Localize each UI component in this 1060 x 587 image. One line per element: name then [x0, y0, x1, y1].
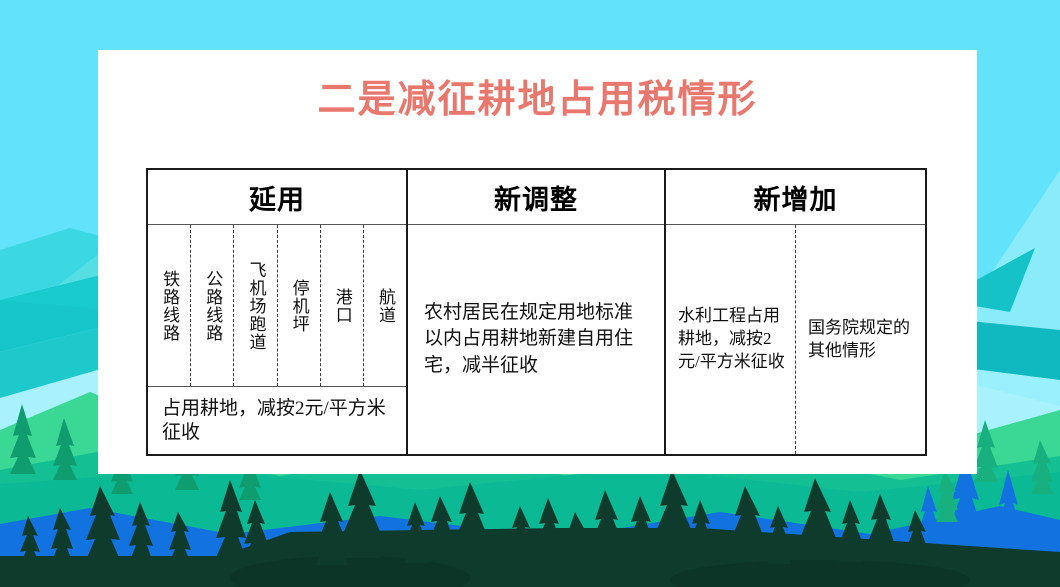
column-header-xintiaozheng: 新调整 [408, 170, 664, 225]
yanyong-item-cell-2: 公路线路 [191, 225, 234, 386]
yanyong-item-label-3: 飞机场跑道 [246, 261, 264, 351]
yanyong-note-cell: 占用耕地，减按2元/平方米征收 [148, 387, 406, 454]
slide-stage: 二是减征耕地占用税情形 延用 铁路线路 公路线路 飞机场跑道 停机坪 [0, 0, 1060, 587]
yanyong-item-cell-6: 航道 [364, 225, 406, 386]
yanyong-item-label-2: 公路线路 [203, 270, 221, 342]
yanyong-item-cell-3: 飞机场跑道 [234, 225, 277, 386]
yanyong-item-cell-4: 停机坪 [278, 225, 321, 386]
xintiaozheng-text: 农村居民在规定用地标准以内占用耕地新建自用住宅，减半征收 [424, 300, 650, 380]
yanyong-item-label-5: 港口 [333, 288, 351, 324]
yanyong-note-text: 占用耕地，减按2元/平方米征收 [162, 397, 398, 445]
yanyong-items-row: 铁路线路 公路线路 飞机场跑道 停机坪 港口 航道 [148, 225, 406, 387]
table-column-xintiaozheng: 新调整 农村居民在规定用地标准以内占用耕地新建自用住宅，减半征收 [408, 170, 666, 454]
table-column-yanyong: 延用 铁路线路 公路线路 飞机场跑道 停机坪 港口 [148, 170, 408, 454]
xintiaozheng-body-cell: 农村居民在规定用地标准以内占用耕地新建自用住宅，减半征收 [408, 225, 664, 454]
yanyong-item-label-6: 航道 [376, 288, 394, 324]
yanyong-item-label-4: 停机坪 [290, 279, 308, 333]
table-column-xinzengjia: 新增加 水利工程占用耕地，减按2元/平方米征收 国务院规定的其他情形 [666, 170, 925, 454]
xinzengjia-subcell-1: 水利工程占用耕地，减按2元/平方米征收 [666, 225, 796, 454]
xinzengjia-subcell-2: 国务院规定的其他情形 [796, 225, 925, 454]
page-title: 二是减征耕地占用税情形 [98, 50, 977, 140]
content-card: 二是减征耕地占用税情形 延用 铁路线路 公路线路 飞机场跑道 停机坪 [98, 50, 977, 474]
yanyong-item-cell-1: 铁路线路 [148, 225, 191, 386]
column-header-xinzengjia: 新增加 [666, 170, 925, 225]
comparison-table: 延用 铁路线路 公路线路 飞机场跑道 停机坪 港口 [146, 168, 927, 456]
column-header-yanyong: 延用 [148, 170, 406, 225]
xinzengjia-body: 水利工程占用耕地，减按2元/平方米征收 国务院规定的其他情形 [666, 225, 925, 454]
xinzengjia-text-2: 国务院规定的其他情形 [808, 317, 917, 363]
xinzengjia-text-1: 水利工程占用耕地，减按2元/平方米征收 [678, 305, 787, 374]
yanyong-item-cell-5: 港口 [321, 225, 364, 386]
yanyong-item-label-1: 铁路线路 [160, 270, 178, 342]
